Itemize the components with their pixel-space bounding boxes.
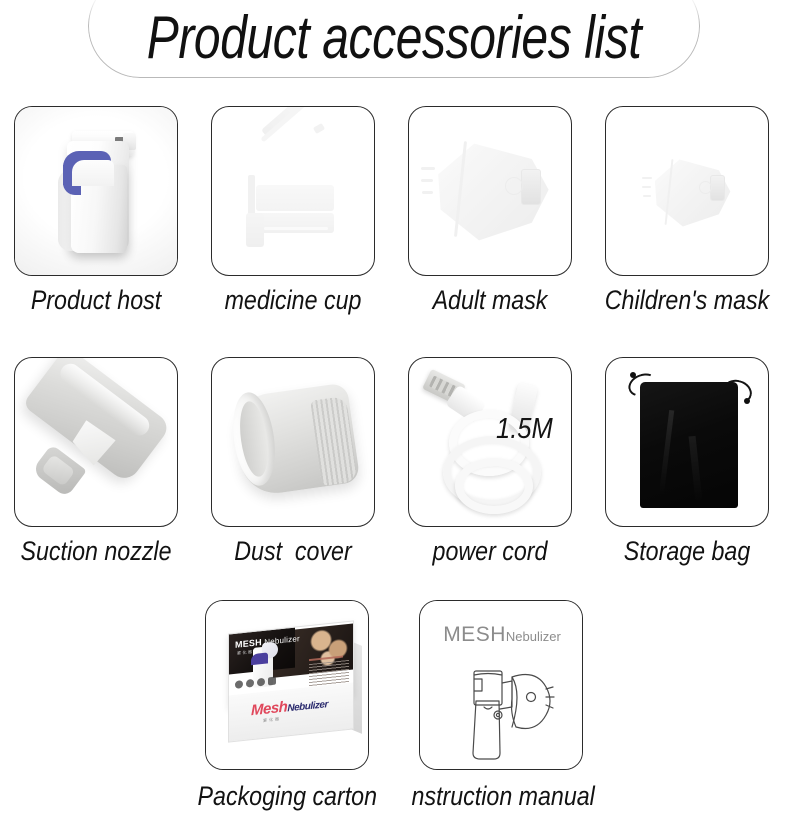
medicine-cup-image: [212, 107, 374, 275]
accessory-item-product-host[interactable]: Product host: [14, 106, 178, 276]
accessory-item-children-mask[interactable]: Children's mask: [605, 106, 769, 276]
page-header: Product accessories list: [0, 0, 788, 92]
children-mask-image: [606, 107, 768, 275]
accessory-item-packaging-carton[interactable]: MESH Nebulizer 雾化器 MeshNebulizer: [205, 600, 369, 770]
accessory-item-suction-nozzle[interactable]: Suction nozzle: [14, 357, 178, 527]
accessory-card[interactable]: MESH Nebulizer 雾化器 MeshNebulizer: [205, 600, 369, 770]
cable-length-label: 1.5M: [496, 413, 553, 445]
accessory-row-2: Suction nozzle Dust cover: [0, 357, 788, 527]
accessory-item-power-cord[interactable]: 1.5M power cord: [408, 357, 572, 527]
accessory-item-storage-bag[interactable]: Storage bag: [605, 357, 769, 527]
accessory-item-instruction-manual[interactable]: MESHNebulizer: [419, 600, 583, 770]
accessory-item-adult-mask[interactable]: Adult mask: [408, 106, 572, 276]
storage-bag-image: [606, 358, 768, 526]
packaging-carton-image: MESH Nebulizer 雾化器 MeshNebulizer: [206, 601, 368, 769]
accessory-label: nstruction manual: [412, 780, 591, 812]
suction-nozzle-image: [15, 358, 177, 526]
accessory-card[interactable]: [14, 106, 178, 276]
accessory-card[interactable]: [408, 106, 572, 276]
accessory-card[interactable]: [211, 357, 375, 527]
accessory-label: Storage bag: [598, 535, 777, 567]
accessory-label: Suction nozzle: [7, 535, 186, 567]
accessory-item-dust-cover[interactable]: Dust cover: [211, 357, 375, 527]
accessory-card[interactable]: [605, 357, 769, 527]
adult-mask-image: [409, 107, 571, 275]
accessory-item-medicine-cup[interactable]: medicine cup: [211, 106, 375, 276]
accessory-label: Children's mask: [598, 284, 777, 316]
carton-front-brand: MeshNebulizer: [251, 694, 328, 719]
accessory-label: Adult mask: [401, 284, 580, 316]
instruction-manual-image: MESHNebulizer: [420, 601, 582, 769]
accessory-label: power cord: [401, 535, 580, 567]
accessory-label: Packoging carton: [198, 780, 377, 812]
accessory-label: medicine cup: [204, 284, 383, 316]
accessory-row-3: MESH Nebulizer 雾化器 MeshNebulizer: [0, 600, 788, 770]
product-host-image: [15, 107, 177, 275]
accessory-card[interactable]: [211, 106, 375, 276]
accessory-row-1: Product host medicine cup: [0, 106, 788, 276]
accessory-card[interactable]: MESHNebulizer: [419, 600, 583, 770]
dust-cover-image: [212, 358, 374, 526]
nebulizer-line-drawing: [420, 653, 582, 763]
page-title: Product accessories list: [79, 4, 709, 72]
accessory-card[interactable]: [14, 357, 178, 527]
manual-brand: MESHNebulizer: [420, 623, 582, 647]
accessory-label: Dust cover: [204, 535, 383, 567]
accessory-label: Product host: [7, 284, 186, 316]
accessory-card[interactable]: [605, 106, 769, 276]
